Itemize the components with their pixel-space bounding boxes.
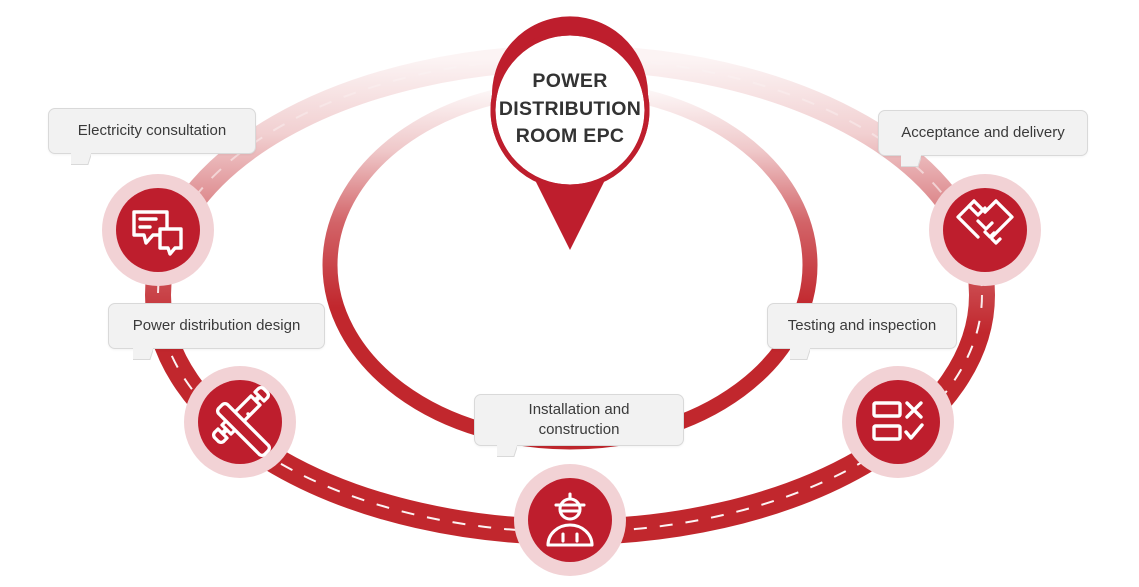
step-label-text-3b: construction xyxy=(539,420,620,440)
node-disc-1 xyxy=(116,188,200,272)
callout-tail-5 xyxy=(901,154,921,172)
step-node-5[interactable] xyxy=(929,174,1041,286)
step-label-text-4: Testing and inspection xyxy=(788,316,936,336)
step-node-1[interactable] xyxy=(102,174,214,286)
step-label-text-3a: Installation and xyxy=(529,400,630,420)
step-node-2[interactable] xyxy=(184,366,296,478)
diagram-canvas: POWER DISTRIBUTION ROOM EPC Electricity … xyxy=(0,0,1139,587)
step-node-3[interactable] xyxy=(514,464,626,576)
step-label-text-2: Power distribution design xyxy=(133,316,301,336)
step-node-4[interactable] xyxy=(842,366,954,478)
callout-tail-1 xyxy=(71,152,91,170)
step-label-installation-and-construction[interactable]: Installation and construction xyxy=(474,394,684,446)
callout-tail-2 xyxy=(133,347,153,365)
node-disc-4 xyxy=(856,380,940,464)
step-label-acceptance-and-delivery[interactable]: Acceptance and delivery xyxy=(878,110,1088,156)
callout-tail-4 xyxy=(790,347,810,365)
step-label-testing-and-inspection[interactable]: Testing and inspection xyxy=(767,303,957,349)
process-cycle-diagram xyxy=(0,0,1139,587)
step-label-text-5: Acceptance and delivery xyxy=(901,123,1064,143)
map-pin-icon xyxy=(492,16,648,250)
callout-tail-3 xyxy=(497,444,517,462)
step-label-text-1: Electricity consultation xyxy=(78,121,226,141)
step-label-electricity-consultation[interactable]: Electricity consultation xyxy=(48,108,256,154)
step-label-power-distribution-design[interactable]: Power distribution design xyxy=(108,303,325,349)
